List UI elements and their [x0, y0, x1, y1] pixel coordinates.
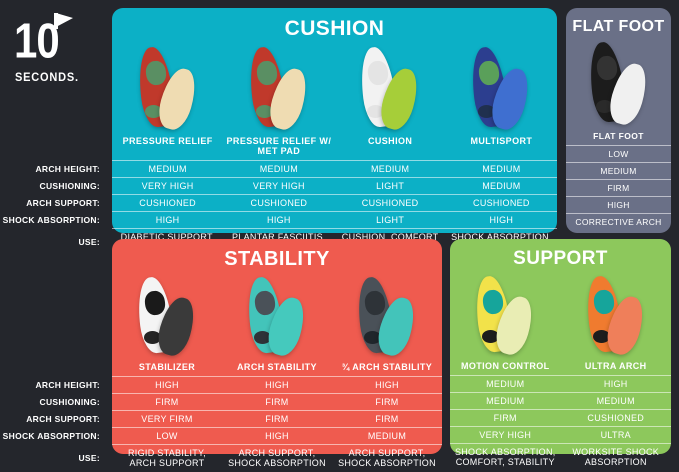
spec-value: RIGID STABILITY, ARCH SUPPORT — [112, 445, 222, 472]
spec-value: MEDIUM — [446, 161, 557, 177]
spec-value: MEDIUM — [335, 161, 446, 177]
panel-flat-foot: FLAT FOOT FLAT FOOTLOWMEDIUMFIRMHIGHCORR… — [566, 8, 671, 233]
spec-value: FIRM — [222, 411, 332, 427]
spec-value: MEDIUM — [112, 161, 223, 177]
spec-header-row: PRESSURE RELIEFPRESSURE RELIEF W/ MET PA… — [112, 133, 557, 160]
spec-value: SHOCK ABSORPTION, COMFORT, STABILITY — [450, 444, 561, 471]
product-photo — [446, 41, 557, 133]
product-images-support — [450, 270, 671, 358]
spec-row-arch-height: HIGHHIGHHIGH — [112, 376, 442, 393]
product-photo — [335, 41, 446, 133]
spec-value: ARCH SUPPORT, SHOCK ABSORPTION — [222, 445, 332, 472]
product-photo — [566, 36, 671, 128]
product-name: ¾ ARCH STABILITY — [332, 359, 442, 376]
spec-table-flat-foot: FLAT FOOTLOWMEDIUMFIRMHIGHCORRECTIVE ARC… — [566, 128, 671, 231]
insole-illustration — [465, 47, 537, 133]
product-photo — [222, 271, 332, 359]
product-photo — [332, 271, 442, 359]
product-photo — [112, 41, 223, 133]
panel-title-cushion: CUSHION — [112, 8, 557, 41]
insole-illustration — [132, 47, 204, 133]
spec-value: CUSHIONED — [446, 195, 557, 211]
spec-value: HIGH — [222, 377, 332, 393]
product-name: MOTION CONTROL — [450, 358, 561, 375]
spec-row-arch-support: FIRMCUSHIONED — [450, 409, 671, 426]
product-name: PRESSURE RELIEF — [112, 133, 223, 160]
spec-table-support: MOTION CONTROLULTRA ARCHMEDIUMHIGHMEDIUM… — [450, 358, 671, 471]
insole-illustration — [580, 276, 652, 358]
spec-value: MEDIUM — [332, 428, 442, 444]
product-name: ULTRA ARCH — [561, 358, 672, 375]
product-name: ARCH STABILITY — [222, 359, 332, 376]
spec-value: LIGHT — [335, 178, 446, 194]
product-name: FLAT FOOT — [566, 128, 671, 145]
product-name: CUSHION — [335, 133, 446, 160]
spec-value: FIRM — [222, 394, 332, 410]
spec-value: ULTRA — [561, 427, 672, 443]
row-labels-bottom: ARCH HEIGHT:CUSHIONING:ARCH SUPPORT:SHOC… — [0, 0, 106, 462]
spec-table-cushion: PRESSURE RELIEFPRESSURE RELIEF W/ MET PA… — [112, 133, 557, 256]
spec-row-use: SHOCK ABSORPTION, COMFORT, STABILITYWORK… — [450, 443, 671, 471]
spec-row-arch-support: VERY FIRMFIRMFIRM — [112, 410, 442, 427]
insole-illustration — [354, 47, 426, 133]
spec-table-stability: STABILIZERARCH STABILITY¾ ARCH STABILITY… — [112, 359, 442, 472]
spec-value: FIRM — [450, 410, 561, 426]
spec-value: HIGH — [112, 212, 223, 228]
spec-row-use: RIGID STABILITY, ARCH SUPPORTARCH SUPPOR… — [112, 444, 442, 472]
spec-value: HIGH — [332, 377, 442, 393]
spec-value: HIGH — [566, 197, 671, 213]
product-images-stability — [112, 271, 442, 359]
panel-cushion: CUSHION PRESSURE RELIEFPRESSURE RELIEF W… — [112, 8, 557, 233]
spec-row-arch-height: MEDIUMMEDIUMMEDIUMMEDIUM — [112, 160, 557, 177]
spec-row-cushioning: MEDIUMMEDIUM — [450, 392, 671, 409]
product-name: PRESSURE RELIEF W/ MET PAD — [223, 133, 334, 160]
spec-value: LIGHT — [335, 212, 446, 228]
spec-value: MEDIUM — [450, 393, 561, 409]
panel-title-flat-foot: FLAT FOOT — [566, 8, 671, 36]
spec-value: VERY FIRM — [112, 411, 222, 427]
spec-row-arch-support: FIRM — [566, 179, 671, 196]
spec-value: CUSHIONED — [223, 195, 334, 211]
panel-title-stability: STABILITY — [112, 239, 442, 271]
spec-value: VERY HIGH — [223, 178, 334, 194]
spec-row-arch-height: LOW — [566, 145, 671, 162]
spec-value: CORRECTIVE ARCH — [566, 214, 671, 231]
spec-value: FIRM — [332, 394, 442, 410]
spec-row-shock-absorption: VERY HIGHULTRA — [450, 426, 671, 443]
product-name: STABILIZER — [112, 359, 222, 376]
product-images-flat-foot — [566, 36, 671, 128]
insole-illustration — [241, 277, 313, 359]
comparison-board: 10 SECONDS. ARCH HEIGHT:CUSHIONING:ARCH … — [0, 0, 679, 462]
spec-row-shock-absorption: HIGHHIGHLIGHTHIGH — [112, 211, 557, 228]
row-label-3: SHOCK ABSORPTION: — [3, 431, 106, 441]
spec-value: HIGH — [561, 376, 672, 392]
spec-header-row: STABILIZERARCH STABILITY¾ ARCH STABILITY — [112, 359, 442, 376]
spec-value: HIGH — [446, 212, 557, 228]
row-label-0: ARCH HEIGHT: — [35, 380, 106, 390]
spec-row-arch-support: CUSHIONEDCUSHIONEDCUSHIONEDCUSHIONED — [112, 194, 557, 211]
spec-value: MEDIUM — [566, 163, 671, 179]
spec-value: FIRM — [566, 180, 671, 196]
spec-value: MEDIUM — [561, 393, 672, 409]
spec-row-shock-absorption: LOWHIGHMEDIUM — [112, 427, 442, 444]
spec-value: MEDIUM — [446, 178, 557, 194]
panel-stability: STABILITY STABILIZERARCH STABILITY¾ ARCH… — [112, 239, 442, 454]
spec-value: MEDIUM — [450, 376, 561, 392]
insole-illustration — [131, 277, 203, 359]
product-photo — [561, 270, 672, 358]
product-photo — [112, 271, 222, 359]
spec-row-shock-absorption: HIGH — [566, 196, 671, 213]
spec-value: HIGH — [223, 212, 334, 228]
spec-header-row: FLAT FOOT — [566, 128, 671, 145]
spec-value: FIRM — [332, 411, 442, 427]
spec-row-cushioning: MEDIUM — [566, 162, 671, 179]
spec-row-use: CORRECTIVE ARCH — [566, 213, 671, 231]
spec-value: CUSHIONED — [112, 195, 223, 211]
panel-title-support: SUPPORT — [450, 239, 671, 270]
spec-row-cushioning: VERY HIGHVERY HIGHLIGHTMEDIUM — [112, 177, 557, 194]
spec-value: MEDIUM — [223, 161, 334, 177]
spec-row-arch-height: MEDIUMHIGH — [450, 375, 671, 392]
spec-value: CUSHIONED — [335, 195, 446, 211]
product-photo — [223, 41, 334, 133]
product-name: MULTISPORT — [446, 133, 557, 160]
product-photo — [450, 270, 561, 358]
spec-row-cushioning: FIRMFIRMFIRM — [112, 393, 442, 410]
insole-illustration — [243, 47, 315, 133]
insole-illustration — [469, 276, 541, 358]
spec-value: VERY HIGH — [450, 427, 561, 443]
spec-header-row: MOTION CONTROLULTRA ARCH — [450, 358, 671, 375]
spec-value: VERY HIGH — [112, 178, 223, 194]
spec-value: HIGH — [112, 377, 222, 393]
insole-illustration — [351, 277, 423, 359]
row-label-1: CUSHIONING: — [40, 397, 106, 407]
insole-illustration — [583, 42, 655, 128]
spec-value: CUSHIONED — [561, 410, 672, 426]
spec-value: LOW — [112, 428, 222, 444]
product-images-cushion — [112, 41, 557, 133]
spec-value: WORKSITE SHOCK ABSORPTION — [561, 444, 672, 471]
spec-value: ARCH SUPPORT, SHOCK ABSORPTION — [332, 445, 442, 472]
panel-support: SUPPORT MOTION CONTROLULTRA ARCHMEDIUMHI… — [450, 239, 671, 454]
spec-value: FIRM — [112, 394, 222, 410]
spec-value: LOW — [566, 146, 671, 162]
row-label-2: ARCH SUPPORT: — [26, 414, 106, 424]
spec-value: HIGH — [222, 428, 332, 444]
